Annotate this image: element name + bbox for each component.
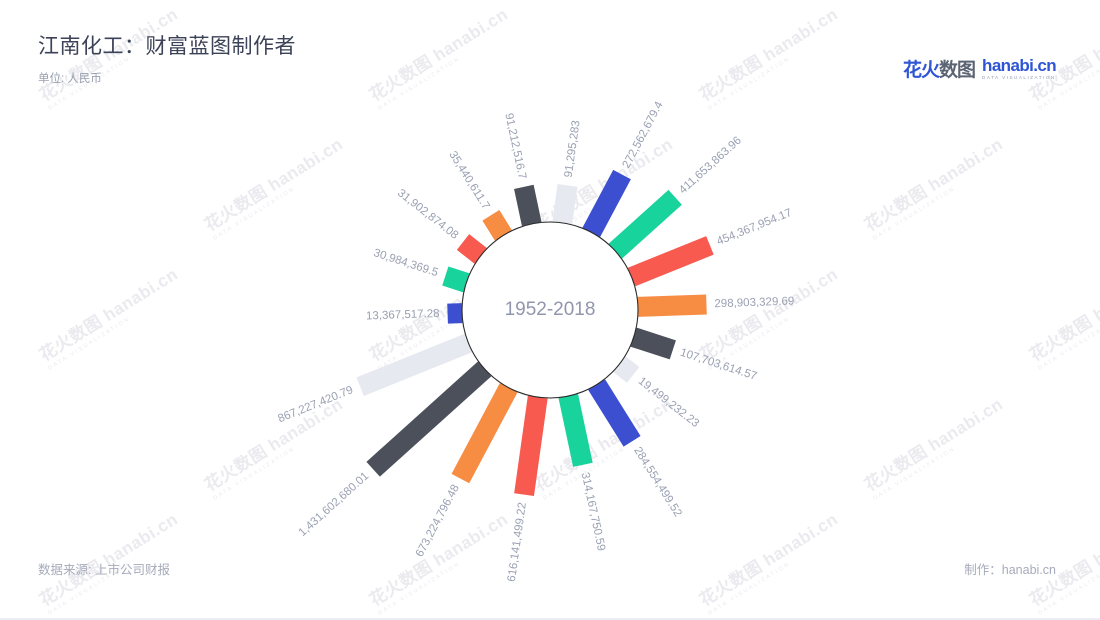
radial-bar[interactable] [447, 303, 462, 323]
logo-english: hanabi.cn DATA VISUALIZATION [982, 57, 1056, 81]
radial-bar[interactable] [559, 394, 593, 467]
bar-value-label: 272,562,679.4 [621, 99, 666, 170]
center-period-label: 1952-2018 [505, 299, 596, 320]
bar-value-label: 91,212,516.7 [502, 112, 528, 180]
bar-value-label: 284,554,499.52 [631, 445, 684, 519]
bar-value-label: 454,367,954.17 [715, 207, 794, 248]
credit-text: 制作：hanabi.cn [964, 559, 1056, 578]
unit-subtitle: 单位: 人民币 [38, 71, 104, 88]
bar-value-label: 867,227,420.79 [276, 384, 355, 425]
bar-value-label: 35,440,611.7 [446, 149, 491, 212]
radial-bar[interactable] [514, 396, 548, 496]
watermark: 花火数图 hanabi.cnDATA VISUALIZATION [859, 130, 1011, 241]
bar-value-label: 91,295,283 [563, 120, 583, 179]
watermark: 花火数图 hanabi.cnDATA VISUALIZATION [859, 390, 1011, 501]
bar-value-label: 30,984,369.5 [372, 247, 440, 279]
radial-bar[interactable] [514, 185, 541, 226]
bar-value-label: 673,224,796.48 [414, 483, 462, 559]
radial-bar-chart: 1952-2018 91,295,283272,562,679.4411,653… [240, 0, 860, 620]
radial-bar[interactable] [628, 236, 714, 286]
radial-bar[interactable] [582, 170, 630, 237]
bar-value-label: 616,141,499.22 [506, 502, 529, 583]
logo-en-name: hanabi.cn [982, 57, 1056, 74]
bar-value-label: 298,903,329.69 [714, 296, 794, 311]
bar-value-label: 13,367,517.28 [366, 308, 440, 323]
chart-canvas: 花火数图 hanabi.cnDATA VISUALIZATION花火数图 han… [0, 0, 1100, 620]
bar-value-label: 1,431,602,680.01 [297, 470, 372, 539]
radial-bar[interactable] [631, 328, 676, 360]
radial-bar[interactable] [638, 295, 707, 317]
watermark: 花火数图 hanabi.cnDATA VISUALIZATION [34, 260, 186, 371]
watermark: 花火数图 hanabi.cnDATA VISUALIZATION [1024, 260, 1100, 371]
bar-value-label: 411,653,863.96 [677, 135, 744, 197]
page-title: 江南化工：财富蓝图制作者 [38, 34, 296, 59]
logo-en-tagline: DATA VISUALIZATION [982, 76, 1056, 81]
bar-value-label: 19,499,232.23 [636, 375, 701, 430]
radial-bar[interactable] [552, 184, 577, 224]
logo-cn-part2: 数图 [939, 60, 975, 81]
logo-cn-part1: 花火 [903, 60, 939, 81]
bar-value-label: 314,167,750.59 [579, 471, 607, 552]
data-source-text: 数据来源: 上市公司财报 [38, 559, 170, 578]
header: 江南化工：财富蓝图制作者 单位: 人民币 [38, 34, 296, 88]
radial-bar-chart-svg: 1952-2018 91,295,283272,562,679.4411,653… [240, 0, 860, 620]
brand-logo: 花火数图 hanabi.cn DATA VISUALIZATION [903, 55, 1056, 82]
bar-value-label: 31,902,874.08 [395, 187, 460, 242]
radial-bar[interactable] [588, 379, 640, 446]
bar-value-label: 107,703,614.57 [679, 347, 759, 383]
logo-chinese: 花火数图 [903, 55, 975, 82]
